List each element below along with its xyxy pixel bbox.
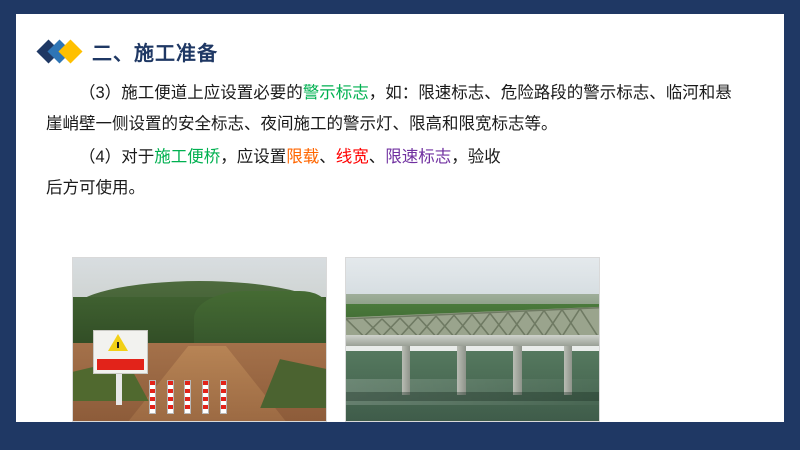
item4-number: （4） <box>79 148 121 166</box>
slide-title-row: 二、施工准备 <box>40 34 218 68</box>
item4-highlight-temp-bridge: 施工便桥 <box>154 148 220 166</box>
photo-temporary-steel-bridge <box>345 257 600 422</box>
bottom-accent-strip <box>0 422 800 450</box>
bridge-guardrail <box>346 346 599 351</box>
body-text: （3）施工便道上应设置必要的警示标志，如：限速标志、危险路段的警示标志、临河和悬… <box>46 78 746 206</box>
item4-sep-2: 、 <box>369 148 386 166</box>
photo-construction-access-road <box>72 257 327 422</box>
barrier-pole <box>149 380 156 415</box>
item4-text-before: 对于 <box>121 148 154 166</box>
barrier-pole <box>184 380 191 415</box>
barrier-pole <box>220 380 227 415</box>
bridge-pier <box>457 346 466 395</box>
barrier-pole <box>167 380 174 415</box>
paragraph-item3: （3）施工便道上应设置必要的警示标志，如：限速标志、危险路段的警示标志、临河和悬… <box>46 78 746 140</box>
paragraph-item4: （4）对于施工便桥，应设置限载、线宽、限速标志，验收后方可使用。 <box>46 142 746 204</box>
bridge-deck <box>346 335 599 346</box>
bridge-pier <box>564 346 573 395</box>
diamond-decoration-icon <box>40 38 86 64</box>
content-panel: 二、施工准备 （3）施工便道上应设置必要的警示标志，如：限速标志、危险路段的警示… <box>16 14 784 422</box>
slide-canvas: 二、施工准备 （3）施工便道上应设置必要的警示标志，如：限速标志、危险路段的警示… <box>0 0 800 450</box>
warning-sign-red-band <box>97 359 144 370</box>
item4-sep-1: 、 <box>319 148 336 166</box>
item4-text-middle: ，应设置 <box>220 148 286 166</box>
item4-highlight-load-limit: 限载 <box>286 148 319 166</box>
item4-highlight-speed-limit: 限速标志 <box>385 148 451 166</box>
warning-sign-board <box>93 330 148 374</box>
item4-text-after: ，验收 <box>451 148 501 166</box>
barrier-pole <box>202 380 209 415</box>
item3-highlight-warning-sign: 警示标志 <box>303 84 369 102</box>
bridge-pier <box>402 346 411 395</box>
bridge-pier <box>513 346 522 395</box>
item3-number: （3） <box>79 84 121 102</box>
item4-highlight-width-limit: 线宽 <box>336 148 369 166</box>
bridge-water-shadow <box>346 392 599 402</box>
warning-triangle-icon <box>108 334 128 351</box>
item4-line2: 后方可使用。 <box>46 179 145 197</box>
item3-text-before: 施工便道上应设置必要的 <box>121 84 303 102</box>
page-title: 二、施工准备 <box>92 37 218 66</box>
